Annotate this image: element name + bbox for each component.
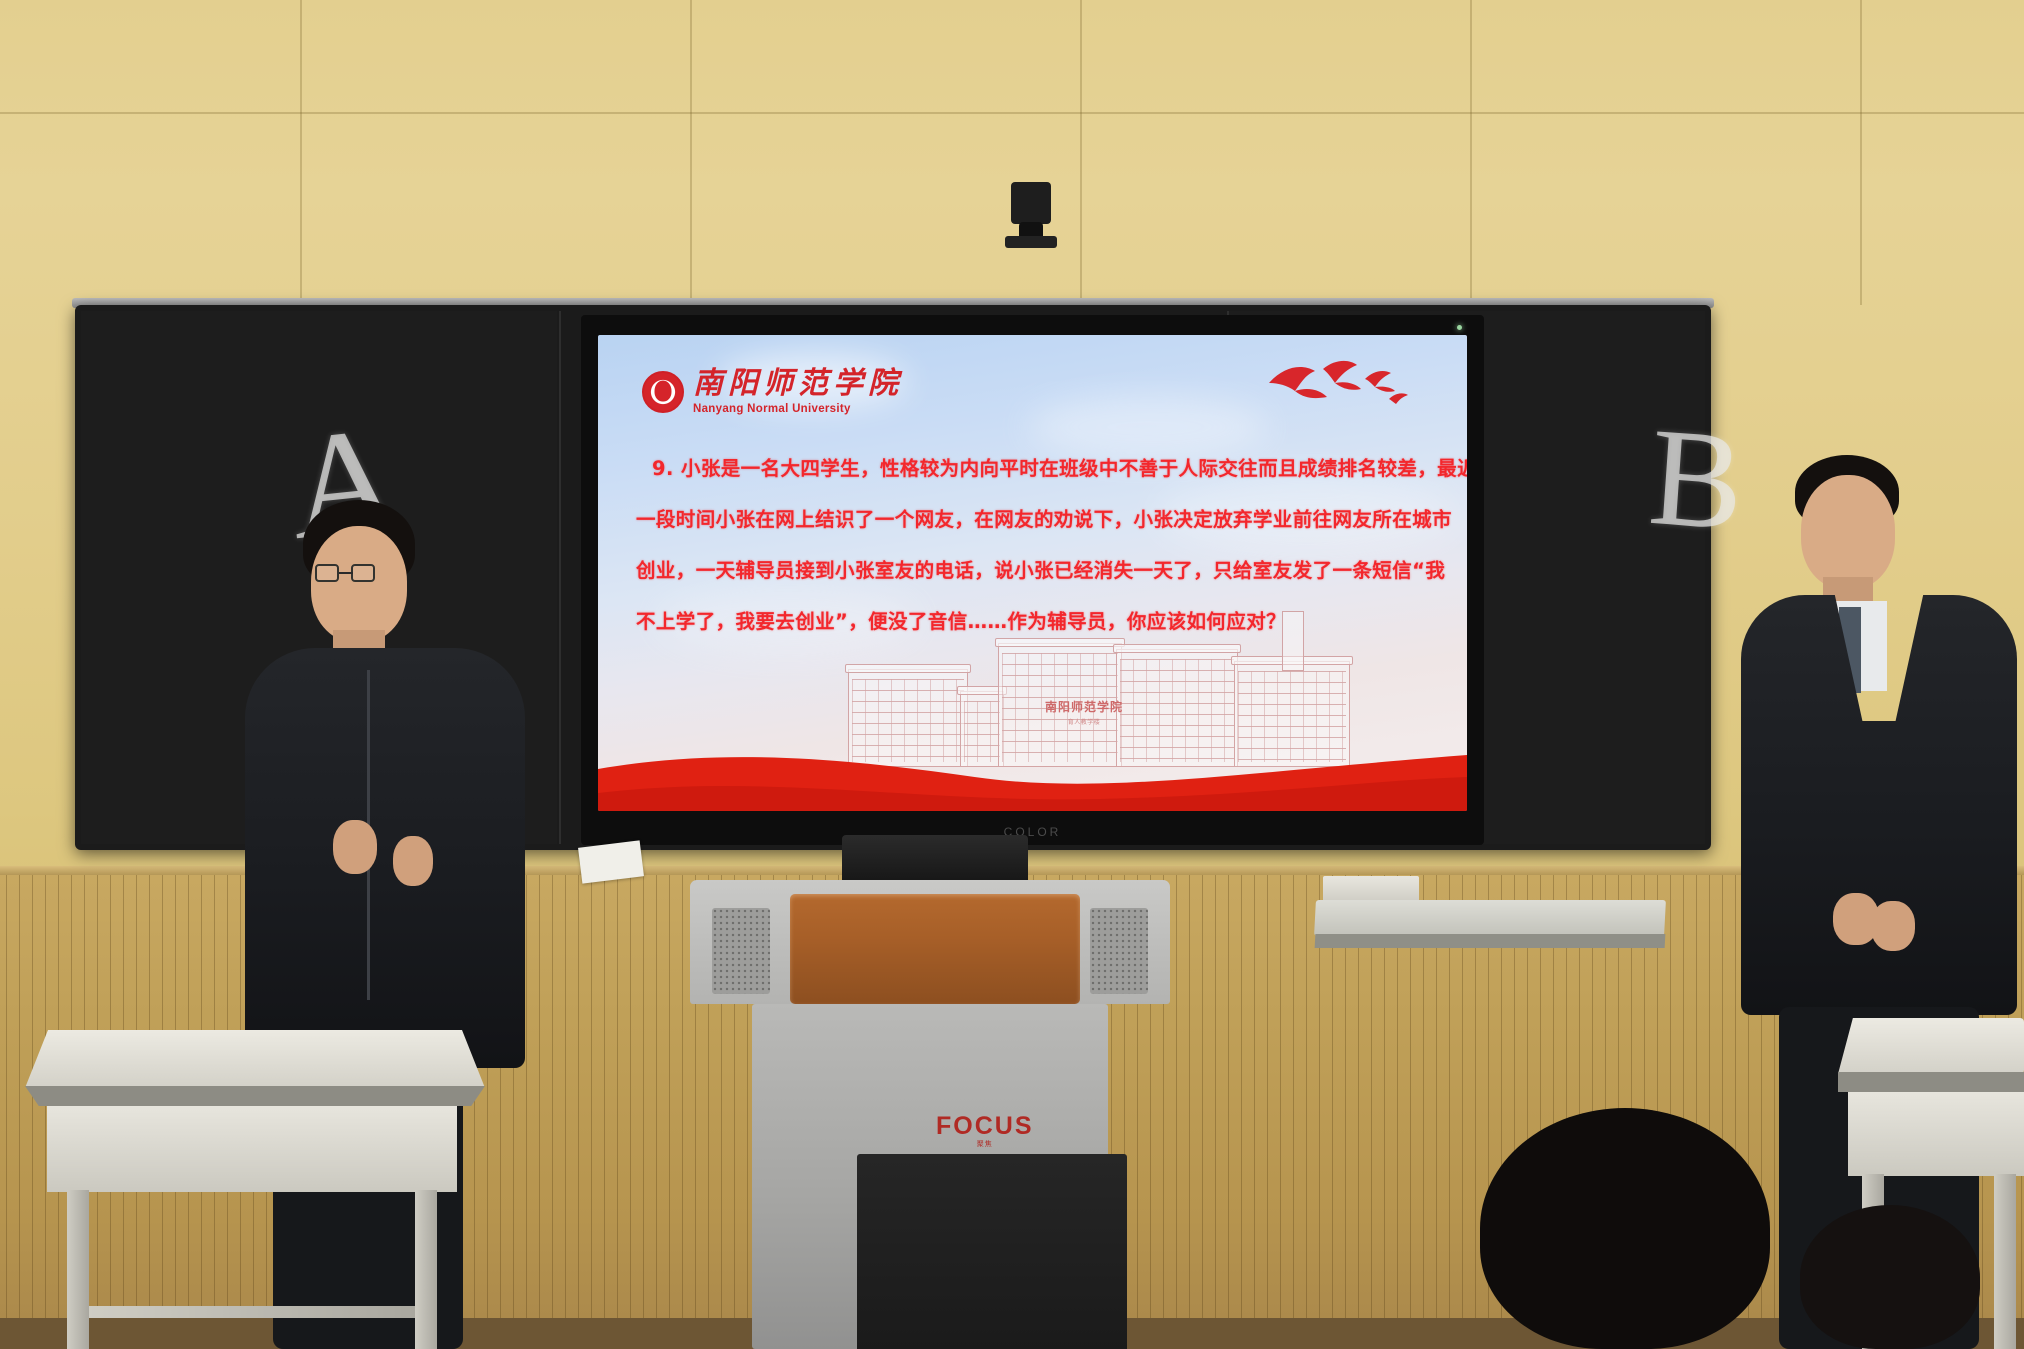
ceiling-camera-icon [1005,182,1057,254]
audience-head-1 [1480,1108,1770,1349]
podium-speaker-right [1090,908,1148,994]
hand-left [333,820,377,874]
red-wave-graphic [598,707,1467,811]
wall-seam [1080,0,1082,305]
lectern-podium[interactable]: FOCUS 聚焦 [690,880,1170,1349]
paper-sheet [578,840,644,883]
desk-front-panel [1848,1092,2024,1176]
wall-seam [300,0,302,305]
side-table-object [1323,876,1419,902]
hand-right [393,836,433,886]
podium-speaker-left [712,908,770,994]
flying-doves-icon [1261,357,1411,419]
side-table [1315,900,1665,1030]
desk-leg [67,1190,89,1349]
desk-leg [1994,1174,2016,1349]
hand-right [1871,901,1915,951]
glasses-left-lens [315,564,339,582]
head [311,526,407,642]
classroom-scene: A B 南阳师范学院 Nanyang Normal University [0,0,2024,1349]
desk-edge [25,1086,485,1106]
camera-body [1011,182,1051,224]
audience-head-2 [1800,1205,1980,1349]
slide-logo: 南阳师范学院 Nanyang Normal University [642,369,903,416]
desk-leg [415,1190,437,1349]
desk-top [1838,1018,2024,1074]
wall-seam [690,0,692,305]
focus-brand-logo: FOCUS 聚焦 [936,1114,1034,1148]
campus-tower [1282,611,1304,671]
university-seal-icon [642,371,684,413]
logo-text: 南阳师范学院 Nanyang Normal University [693,369,903,416]
camera-mount [1005,236,1057,248]
desk-front-panel [47,1106,457,1192]
focus-brand-name: FOCUS [936,1114,1034,1139]
student-desk-left [25,1030,485,1349]
podium-top [690,880,1170,1004]
chalk-letter-b: B [1645,407,1748,553]
podium-desk-surface [790,894,1080,1004]
desk-top [25,1030,485,1088]
desk-edge [1838,1072,2024,1092]
desk-crossbar [89,1306,415,1318]
wall-seam [1470,0,1472,305]
interactive-display-panel[interactable]: 南阳师范学院 Nanyang Normal University [581,315,1484,845]
podium-cabinet-door[interactable] [857,1154,1127,1349]
slide-line-1: 9. 小张是一名大四学生，性格较为内向平时在班级中不善于人际交往而且成绩排名较差… [636,443,1433,494]
presentation-slide: 南阳师范学院 Nanyang Normal University [598,335,1467,811]
head [1801,475,1895,589]
slide-line-3: 创业，一天辅导员接到小张室友的电话，说小张已经消失一天了，只给室友发了一条短信“… [636,545,1433,596]
power-led-indicator [1457,325,1462,330]
wall-seam [1860,0,1862,305]
focus-brand-sub: 聚焦 [977,1141,993,1148]
side-table-top [1314,900,1666,936]
logo-name-en: Nanyang Normal University [693,404,903,416]
wall-seam [0,112,2024,114]
logo-name-cn: 南阳师范学院 [693,369,903,399]
jacket [245,648,525,1068]
podium-base: FOCUS 聚焦 [752,1004,1108,1349]
glasses-right-lens [351,564,375,582]
side-table-edge [1315,934,1666,948]
blackboard-seam [559,311,561,844]
glasses-bridge [339,572,353,574]
slide-line-2: 一段时间小张在网上结识了一个网友，在网友的劝说下，小张决定放弃学业前往网友所在城… [636,494,1433,545]
